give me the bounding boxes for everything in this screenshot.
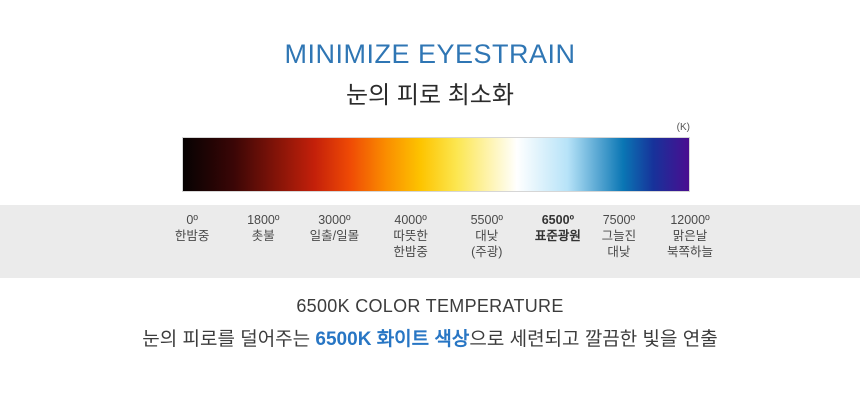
footer-english-line: 6500K COLOR TEMPERATURE: [0, 294, 860, 318]
color-temperature-gradient-bar: [182, 137, 690, 192]
color-temperature-scale: (K): [182, 121, 690, 192]
footer: 6500K COLOR TEMPERATURE 눈의 피로를 덜어주는 6500…: [0, 294, 860, 353]
tick-description: 맑은날 북쪽하늘: [635, 228, 745, 260]
footer-korean-suffix: 으로 세련되고 깔끔한 빛을 연출: [469, 329, 717, 350]
temperature-label-band: 0º한밤중1800º촛불3000º일출/일몰4000º따뜻한 한밤중5500º대…: [0, 205, 860, 278]
temperature-label-track: 0º한밤중1800º촛불3000º일출/일몰4000º따뜻한 한밤중5500º대…: [182, 205, 690, 278]
temperature-tick: 12000º맑은날 북쪽하늘: [635, 212, 745, 260]
footer-korean-accent: 6500K 화이트 색상: [315, 329, 469, 350]
page-title-korean: 눈의 피로 최소화: [0, 70, 860, 109]
footer-korean-line: 눈의 피로를 덜어주는 6500K 화이트 색상으로 세련되고 깔끔한 빛을 연…: [0, 318, 860, 353]
page-title-english: MINIMIZE EYESTRAIN: [0, 0, 860, 70]
footer-korean-prefix: 눈의 피로를 덜어주는: [142, 329, 315, 350]
tick-kelvin-value: 12000º: [635, 212, 745, 228]
unit-row: (K): [182, 121, 690, 137]
kelvin-unit-label: (K): [677, 121, 690, 135]
header: MINIMIZE EYESTRAIN 눈의 피로 최소화: [0, 0, 860, 109]
